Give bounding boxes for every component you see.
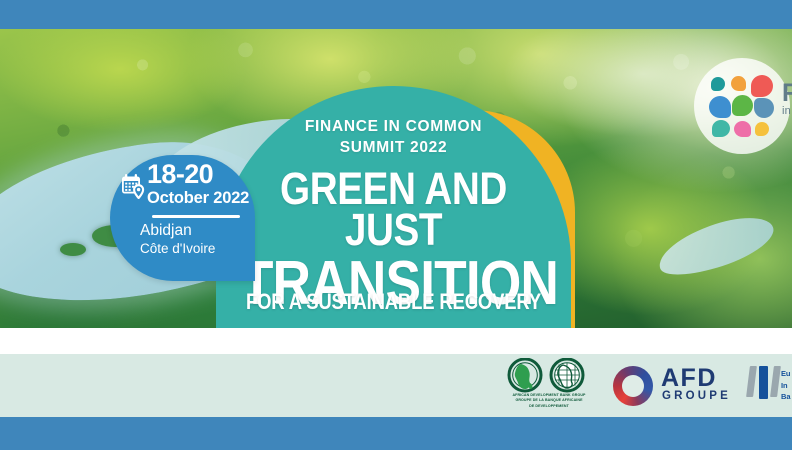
afdb-wordmark: AFRICAN DEVELOPMENT BANK GROUP GROUPE DE…	[497, 393, 601, 409]
afd-ring-hole	[622, 375, 644, 397]
afdb-line-2: GROUPE DE LA BANQUE AFRICAINE	[515, 398, 582, 402]
yellow-blob	[755, 122, 769, 136]
kicker-line-1: FINANCE IN COMMON	[305, 118, 482, 135]
green-blob	[732, 95, 753, 116]
summit-kicker: FINANCE IN COMMON SUMMIT 2022	[216, 117, 571, 158]
date-month-year: October 2022	[147, 189, 251, 209]
eib-logo: Eu In Ba	[748, 366, 792, 406]
fics-subtitle: in	[782, 106, 792, 118]
calendar-location-pin-icon	[121, 173, 147, 199]
fics-wordmark: FiCS in	[782, 80, 792, 118]
headline-block: FINANCE IN COMMON SUMMIT 2022 GREEN AND …	[216, 86, 571, 328]
kicker-line-2: SUMMIT 2022	[340, 139, 448, 156]
date-bubble-content: 18-20 October 2022 Abidjan Côte d'Ivoire	[110, 155, 255, 281]
afd-wordmark: AFD	[661, 364, 717, 393]
eib-bar-left	[746, 366, 757, 397]
blue-blob	[709, 96, 731, 118]
partner-logo-strip: AFRICAN DEVELOPMENT BANK GROUP GROUPE DE…	[0, 354, 792, 417]
afdb-emblem-icon	[497, 358, 601, 394]
teal-blob	[711, 77, 725, 91]
afdb-logo: AFRICAN DEVELOPMENT BANK GROUP GROUPE DE…	[497, 358, 601, 412]
eib-line-2: In	[781, 381, 787, 390]
eib-line-1: Eu	[781, 369, 790, 378]
top-blue-band	[0, 0, 792, 29]
location-text: Abidjan Côte d'Ivoire	[110, 221, 255, 258]
date-text: 18-20 October 2022	[147, 161, 251, 209]
location-country: Côte d'Ivoire	[140, 240, 255, 258]
headline-tagline: FOR A SUSTAINABLE RECOVERY	[244, 289, 542, 315]
headline-line-1: GREEN AND JUST	[241, 168, 546, 251]
eib-wordmark: Eu In Ba	[781, 368, 792, 403]
fics-name-text: FiCS	[782, 79, 792, 107]
location-city: Abidjan	[140, 221, 255, 240]
fics-logo: FiCS in	[694, 58, 792, 154]
pink-blob	[734, 121, 751, 137]
eib-line-3: Ba	[781, 392, 790, 401]
islet-3	[60, 243, 86, 256]
afdb-line-1: AFRICAN DEVELOPMENT BANK GROUP	[512, 393, 585, 397]
steel-blue-blob	[754, 98, 774, 118]
eib-bar-right	[770, 366, 781, 397]
bubble-divider	[152, 215, 240, 218]
mint-blob	[712, 120, 730, 137]
summit-banner: FINANCE IN COMMON SUMMIT 2022 GREEN AND …	[0, 0, 792, 450]
date-days: 18-20	[147, 161, 251, 188]
afdb-line-3: DE DEVELOPPEMENT	[529, 404, 569, 408]
fics-blob-grid-icon	[709, 75, 775, 137]
bottom-blue-band	[0, 417, 792, 450]
eib-bar-mid	[759, 366, 768, 399]
afd-logo: AFD GROUPE	[613, 364, 735, 408]
afd-subtitle: GROUPE	[662, 390, 731, 402]
red-blob	[751, 75, 773, 97]
orange-blob	[731, 76, 746, 91]
